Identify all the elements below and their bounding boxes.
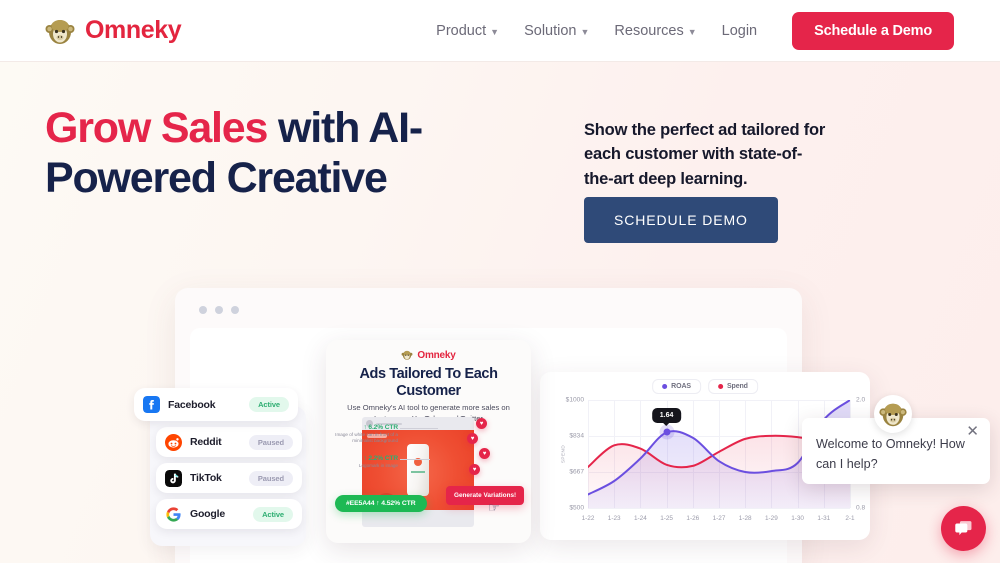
- platform-name: TikTok: [190, 472, 222, 484]
- window-controls: [199, 306, 239, 314]
- chart-legend: ROAS Spend: [652, 379, 758, 394]
- legend-dot-icon: [718, 384, 723, 389]
- chart-tooltip: 1.64: [652, 408, 682, 423]
- engagement-heart-icon: [467, 433, 478, 444]
- window-dot-icon: [199, 306, 207, 314]
- nav-item-product[interactable]: Product ▼: [436, 23, 499, 39]
- ctr-value: ↑ 2.2% CTR: [334, 455, 398, 462]
- grid-line: [588, 508, 850, 509]
- nav-item-solution[interactable]: Solution ▼: [524, 23, 589, 39]
- ad-card-brand: Omneky: [326, 349, 531, 361]
- status-badge: Paused: [249, 435, 293, 450]
- chevron-down-icon: ▼: [688, 27, 697, 37]
- tiktok-icon: [165, 470, 182, 487]
- platform-row-reddit[interactable]: Reddit Paused: [156, 427, 302, 457]
- chat-bubble-icon: [953, 518, 974, 539]
- y-tick-label: $500: [569, 505, 584, 512]
- nav-item-login[interactable]: Login: [722, 23, 757, 39]
- nav-item-login-label: Login: [722, 23, 757, 39]
- monkey-logo-icon: [401, 349, 413, 361]
- top-navigation-bar: Omneky Product ▼ Solution ▼ Resources ▼ …: [0, 0, 1000, 62]
- chevron-down-icon: ▼: [580, 27, 589, 37]
- y-tick-label: $667: [569, 468, 584, 475]
- chat-welcome-message: Welcome to Omneky! How can I help?: [816, 435, 975, 474]
- legend-item-roas[interactable]: ROAS: [652, 379, 701, 394]
- x-tick-label: 1-27: [713, 515, 726, 522]
- x-tick-label: 2-1: [845, 515, 854, 522]
- engagement-heart-icon: [469, 464, 480, 475]
- leader-line: [400, 459, 430, 460]
- nav-item-product-label: Product: [436, 23, 486, 39]
- facebook-icon: [143, 396, 160, 413]
- brand-logo[interactable]: Omneky: [44, 15, 181, 47]
- monkey-logo-icon: [44, 15, 76, 47]
- platform-name: Facebook: [168, 399, 215, 411]
- window-dot-icon: [231, 306, 239, 314]
- brand-name: Omneky: [85, 16, 181, 45]
- y2-tick-label: 2.0: [856, 397, 865, 404]
- can-stripe: [411, 471, 425, 473]
- page-root: Omneky Product ▼ Solution ▼ Resources ▼ …: [0, 0, 1000, 563]
- engagement-heart-icon: [479, 448, 490, 459]
- ad-creative-card: Omneky Ads Tailored To Each Customer Use…: [326, 340, 531, 543]
- chat-launcher-button[interactable]: [941, 506, 986, 551]
- hero-subtitle: Show the perfect ad tailored for each cu…: [584, 118, 829, 191]
- platform-row-google[interactable]: Google Active: [156, 499, 302, 529]
- ctr-annotation-2: ↑ 2.2% CTR Logomark in image: [334, 455, 398, 469]
- chat-avatar: [874, 395, 912, 433]
- platform-name: Reddit: [190, 436, 221, 448]
- legend-label: ROAS: [671, 383, 691, 390]
- chevron-down-icon: ▼: [490, 27, 499, 37]
- page-title: Grow Sales with AI-Powered Creative: [45, 104, 505, 204]
- legend-dot-icon: [662, 384, 667, 389]
- leader-line: [400, 428, 438, 429]
- monkey-avatar-icon: [878, 399, 908, 429]
- status-badge: Active: [253, 507, 293, 522]
- window-dot-icon: [215, 306, 223, 314]
- y2-tick-label: 0.8: [856, 505, 865, 512]
- y-axis-title: SPEND: [561, 445, 566, 463]
- engagement-heart-icon: [476, 418, 487, 429]
- google-icon: [165, 506, 182, 523]
- ad-card-brand-name: Omneky: [417, 350, 455, 361]
- legend-label: Spend: [727, 383, 748, 390]
- reddit-icon: [165, 434, 182, 451]
- x-tick-label: 1-31: [817, 515, 830, 522]
- status-badge: Paused: [249, 471, 293, 486]
- nav-item-resources[interactable]: Resources ▼: [614, 23, 696, 39]
- nav-item-solution-label: Solution: [524, 23, 576, 39]
- x-tick-label: 1-28: [739, 515, 752, 522]
- hero-title-highlight: Grow Sales: [45, 104, 267, 152]
- platform-name: Google: [190, 508, 225, 520]
- nav-item-resources-label: Resources: [614, 23, 683, 39]
- chart-highlight-point: [663, 429, 670, 436]
- schedule-demo-nav-button[interactable]: Schedule a Demo: [792, 12, 954, 50]
- ctr-annotation-1: ↑ 6.2% CTR Image of white can in front o…: [334, 424, 398, 444]
- y-tick-label: $1000: [566, 397, 584, 404]
- x-tick-label: 1-29: [765, 515, 778, 522]
- platform-row-tiktok[interactable]: TikTok Paused: [156, 463, 302, 493]
- cursor-pointer-icon: ☞: [488, 500, 500, 516]
- generate-variations-button[interactable]: Generate Variations!: [446, 486, 524, 505]
- x-tick-label: 1-22: [582, 515, 595, 522]
- x-tick-label: 1-23: [608, 515, 621, 522]
- ctr-performance-pill: #EE5A44 ↑ 4.52% CTR: [335, 495, 427, 512]
- platform-list: Facebook Active Reddit Paused TikTok Pau…: [134, 388, 312, 535]
- x-tick-label: 1-25: [660, 515, 673, 522]
- x-tick-label: 1-24: [634, 515, 647, 522]
- product-can-icon: [407, 444, 429, 496]
- x-tick-label: 1-30: [791, 515, 804, 522]
- platform-row-facebook[interactable]: Facebook Active: [134, 388, 298, 421]
- y-tick-label: $834: [569, 432, 584, 439]
- ctr-value: ↑ 6.2% CTR: [334, 424, 398, 431]
- nav-links: Product ▼ Solution ▼ Resources ▼ Login S…: [436, 12, 954, 50]
- ad-card-headline: Ads Tailored To Each Customer: [326, 366, 531, 399]
- x-tick-label: 1-26: [686, 515, 699, 522]
- close-icon[interactable]: ✕: [966, 424, 979, 439]
- status-badge: Active: [249, 397, 289, 412]
- legend-item-spend[interactable]: Spend: [708, 379, 758, 394]
- ctr-description: Logomark in image: [334, 463, 398, 469]
- schedule-demo-hero-button[interactable]: SCHEDULE DEMO: [584, 197, 778, 243]
- ctr-description: Image of white can in front of a minimal…: [334, 432, 398, 444]
